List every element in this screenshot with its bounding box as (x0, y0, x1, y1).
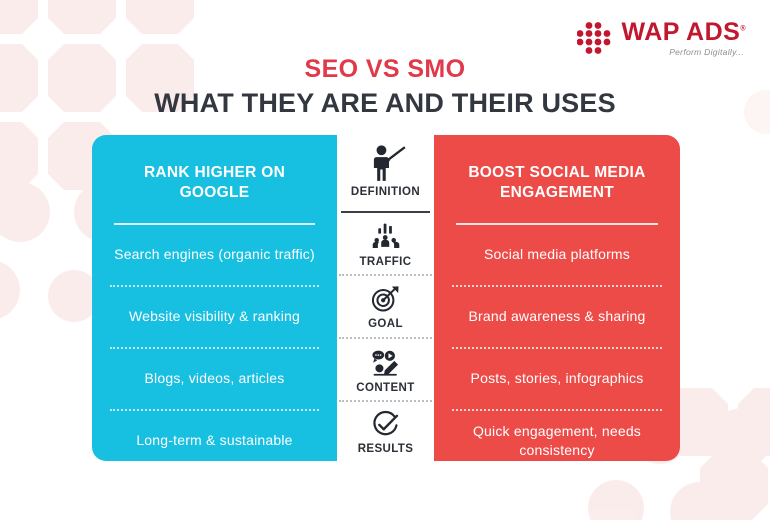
seo-rows: Search engines (organic traffic) Website… (108, 225, 321, 471)
brand-name: WAP ADS® (622, 20, 746, 45)
target-arrow-icon (370, 283, 401, 315)
criteria-column: DEFINITION (337, 135, 434, 461)
seo-row-definition: Search engines (organic traffic) (108, 225, 321, 285)
comparison-board: RANK HIGHER ON GOOGLE Search engines (or… (92, 135, 680, 461)
criterion-label-traffic: TRAFFIC (360, 256, 412, 268)
criterion-results: RESULTS (337, 402, 434, 456)
dot-matrix-icon (577, 22, 613, 56)
criterion-label-goal: GOAL (368, 318, 403, 330)
brand-name-text: WAP ADS (622, 18, 741, 46)
criterion-definition: DEFINITION (337, 143, 434, 205)
criterion-label-results: RESULTS (358, 443, 414, 455)
page-title: WHAT THEY ARE AND THEIR USES (0, 88, 770, 119)
criterion-traffic: TRAFFIC (337, 213, 434, 267)
smo-row-traffic: Brand awareness & sharing (450, 287, 664, 347)
checkmark-refresh-icon (370, 408, 401, 440)
trademark-symbol: ® (740, 26, 746, 33)
smo-column: BOOST SOCIAL MEDIA ENGAGEMENT Social med… (434, 135, 680, 461)
seo-heading: RANK HIGHER ON GOOGLE (108, 149, 321, 221)
seo-row-goal: Blogs, videos, articles (108, 349, 321, 409)
smo-row-definition: Social media platforms (450, 225, 664, 285)
title-accent: SEO VS SMO (0, 55, 770, 84)
smo-rows: Social media platforms Brand awareness &… (450, 225, 664, 471)
bar-chart-people-icon (369, 219, 403, 253)
presenter-pointer-icon (366, 143, 406, 183)
criterion-label-definition: DEFINITION (351, 186, 420, 198)
brand-logo[interactable]: WAP ADS® Perform Digitally... (577, 20, 746, 57)
smo-heading: BOOST SOCIAL MEDIA ENGAGEMENT (450, 149, 664, 221)
page-header: WAP ADS® Perform Digitally... SEO VS SMO… (0, 0, 770, 130)
seo-row-traffic: Website visibility & ranking (108, 287, 321, 347)
seo-row-content: Long-term & sustainable (108, 411, 321, 471)
content-pencil-icon (369, 345, 403, 379)
criterion-label-content: CONTENT (356, 382, 414, 394)
smo-row-content: Quick engagement, needs consistency (450, 411, 664, 471)
criterion-content: CONTENT (337, 339, 434, 393)
criterion-goal: GOAL (337, 276, 434, 330)
seo-column: RANK HIGHER ON GOOGLE Search engines (or… (92, 135, 337, 461)
smo-row-goal: Posts, stories, infographics (450, 349, 664, 409)
